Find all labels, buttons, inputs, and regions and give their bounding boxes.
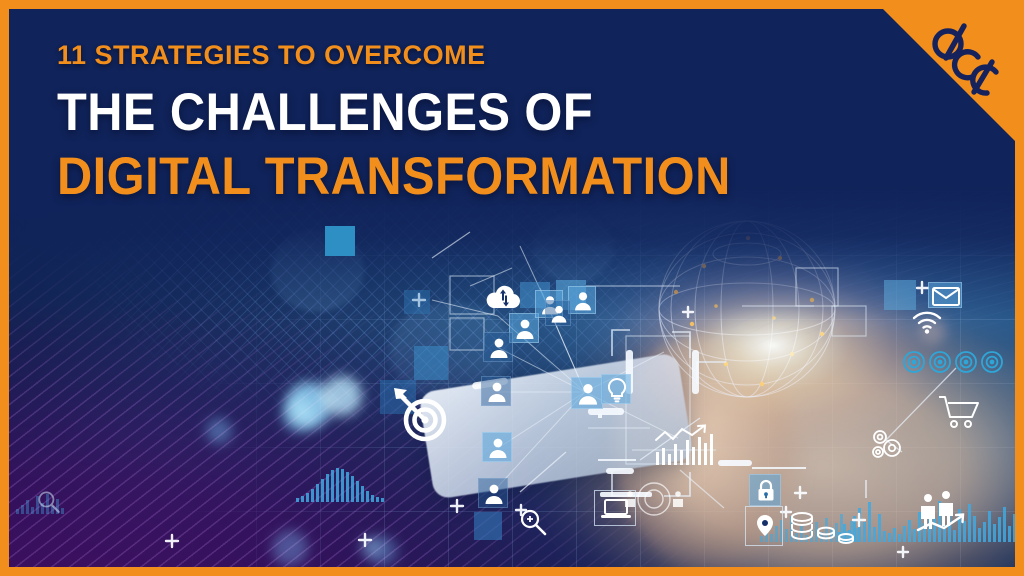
user-profile-icon-hub	[571, 377, 603, 409]
accent-square	[404, 290, 430, 314]
people-growth-icon	[912, 488, 974, 536]
lightbulb-icon	[601, 374, 631, 404]
bar-chart-growth-icon	[652, 424, 722, 470]
gears-icon	[866, 424, 908, 464]
kicker-text: 11 STRATEGIES TO OVERCOME	[57, 42, 789, 69]
accent-square	[325, 226, 355, 256]
user-profile-icon	[482, 432, 512, 462]
user-profile-icon	[568, 286, 596, 314]
accent-square	[414, 346, 448, 380]
accent-square	[884, 280, 916, 310]
envelope-icon	[928, 282, 962, 308]
user-profile-icon	[483, 332, 513, 362]
lock-icon	[749, 474, 781, 506]
magnifier-icon	[34, 488, 64, 518]
network-node-icon	[902, 348, 1010, 376]
user-profile-icon	[481, 376, 511, 406]
accent-square	[474, 512, 502, 540]
poster-canvas: 11 STRATEGIES TO OVERCOME THE CHALLENGES…	[0, 0, 1024, 576]
headline-block: 11 STRATEGIES TO OVERCOME THE CHALLENGES…	[57, 42, 789, 203]
magnifier-icon	[516, 506, 550, 540]
user-profile-icon	[478, 478, 508, 508]
user-profile-icon	[545, 300, 571, 326]
headline-line-1: THE CHALLENGES OF	[57, 86, 789, 139]
cloud-sync-icon	[484, 284, 522, 312]
shopping-cart-icon	[936, 392, 986, 434]
location-pin-icon	[745, 506, 783, 546]
coins-stack-icon	[788, 508, 854, 548]
target-arrow-icon	[390, 382, 452, 444]
dcp-logo[interactable]	[920, 14, 1012, 106]
network-node-icon	[618, 478, 690, 520]
wifi-icon	[910, 308, 944, 336]
headline-line-2: DIGITAL TRANSFORMATION	[57, 150, 789, 203]
